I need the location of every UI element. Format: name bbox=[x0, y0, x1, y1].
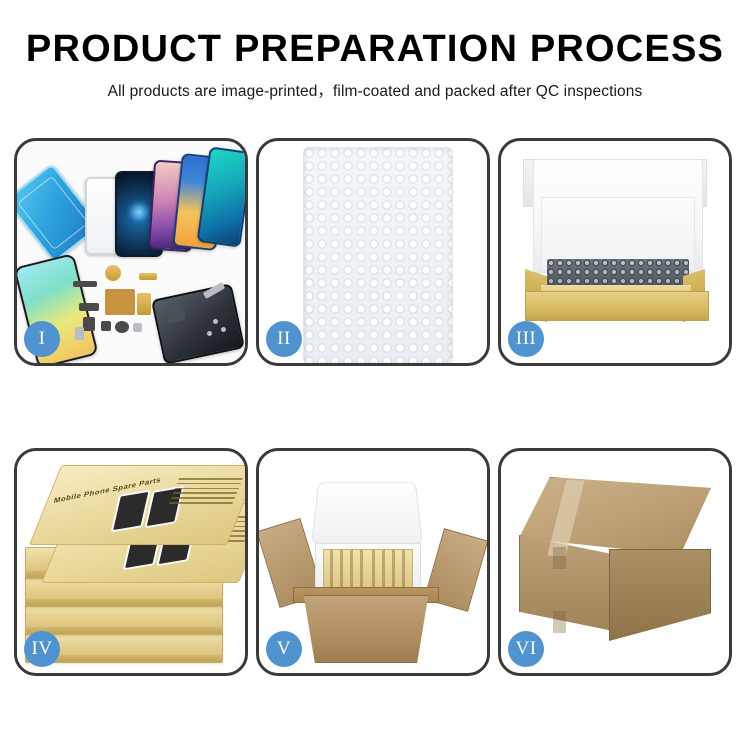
step-badge-4: IV bbox=[24, 631, 60, 667]
process-step-panel-6[interactable]: VI bbox=[498, 448, 732, 676]
step-badge-6: VI bbox=[508, 631, 544, 667]
process-step-grid: I II III bbox=[14, 138, 736, 676]
process-step-panel-1[interactable]: I bbox=[14, 138, 248, 366]
process-step-panel-3[interactable]: III bbox=[498, 138, 732, 366]
process-step-panel-2[interactable]: II bbox=[256, 138, 490, 366]
step-badge-2: II bbox=[266, 321, 302, 357]
step-badge-1: I bbox=[24, 321, 60, 357]
header: PRODUCT PREPARATION PROCESS All products… bbox=[0, 0, 750, 101]
process-step-panel-4[interactable]: Mobile Phone Spare Parts Mobile Phone Sp… bbox=[14, 448, 248, 676]
page-subtitle: All products are image-printed，film-coat… bbox=[0, 79, 750, 101]
step-badge-3: III bbox=[508, 321, 544, 357]
step-badge-5: V bbox=[266, 631, 302, 667]
process-step-panel-5[interactable]: V bbox=[256, 448, 490, 676]
page-title: PRODUCT PREPARATION PROCESS bbox=[0, 30, 750, 70]
